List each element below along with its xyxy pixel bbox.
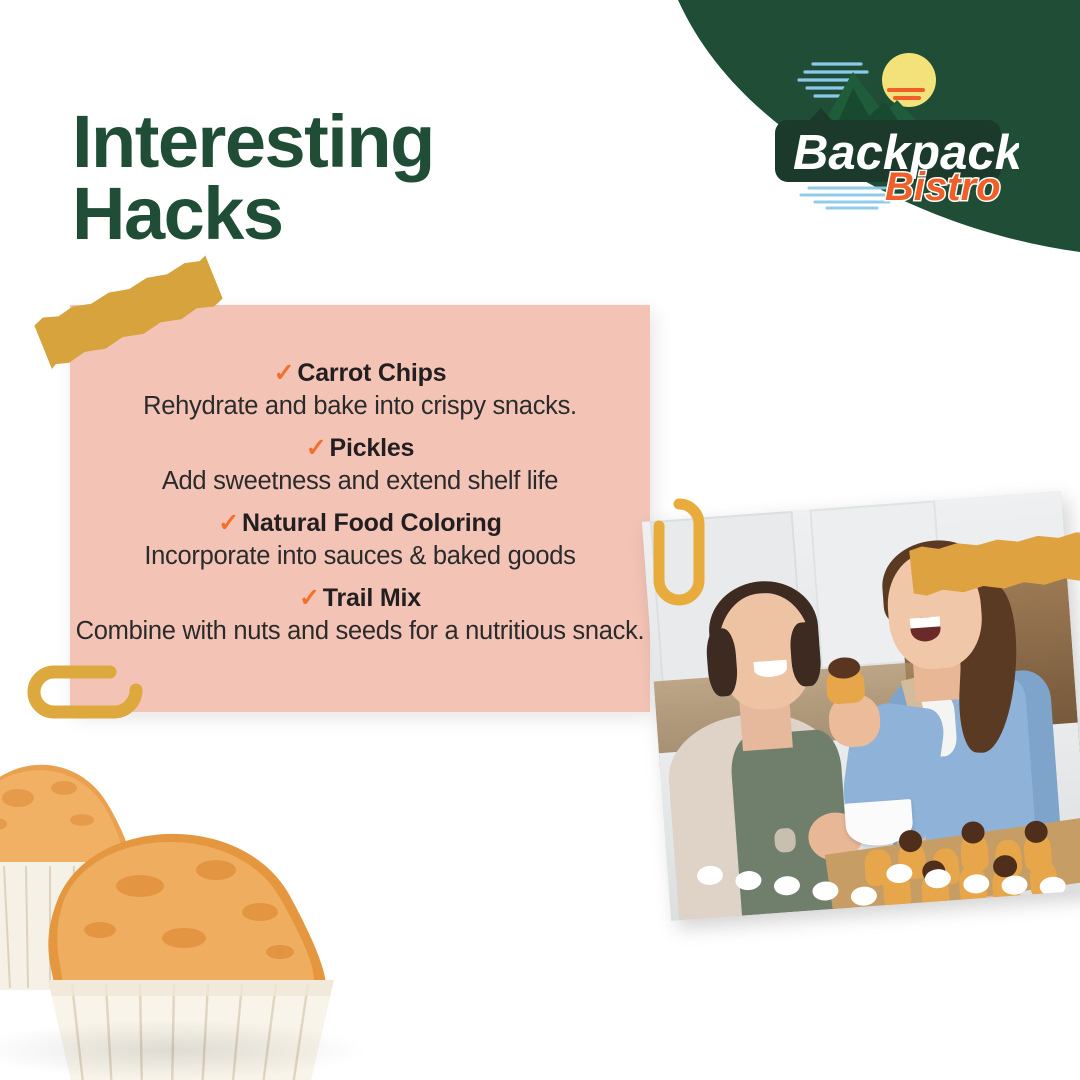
check-icon: ✓	[299, 584, 320, 612]
hack-description: Add sweetness and extend shelf life	[70, 465, 650, 498]
brand-logo[interactable]: Backpack Bistro	[757, 42, 1019, 212]
hack-title: ✓Natural Food Coloring	[70, 507, 650, 539]
hacks-card: ✓Carrot Chips Rehydrate and bake into cr…	[70, 305, 650, 712]
photo-block	[618, 492, 1080, 952]
page-title-line1: Interesting	[72, 100, 434, 183]
muffin-shadow	[0, 1020, 370, 1080]
hack-title: ✓Carrot Chips	[70, 357, 650, 389]
poster-canvas: Backpack Bistro Interesting Hacks ✓Carro…	[0, 0, 1080, 1080]
check-icon: ✓	[306, 434, 327, 462]
hacks-list: ✓Carrot Chips Rehydrate and bake into cr…	[70, 357, 650, 658]
hack-description: Rehydrate and bake into crispy snacks.	[70, 390, 650, 423]
check-icon: ✓	[274, 359, 295, 387]
brand-name-secondary: Bistro	[885, 165, 1001, 209]
page-title-line2: Hacks	[72, 178, 592, 251]
hack-title: ✓Trail Mix	[70, 582, 650, 614]
hack-title: ✓Pickles	[70, 432, 650, 464]
page-title: Interesting Hacks	[72, 106, 592, 251]
hack-description: Combine with nuts and seeds for a nutrit…	[70, 615, 650, 648]
paperclip-icon	[646, 496, 712, 614]
check-icon: ✓	[218, 509, 239, 537]
hack-description: Incorporate into sauces & baked goods	[70, 540, 650, 573]
